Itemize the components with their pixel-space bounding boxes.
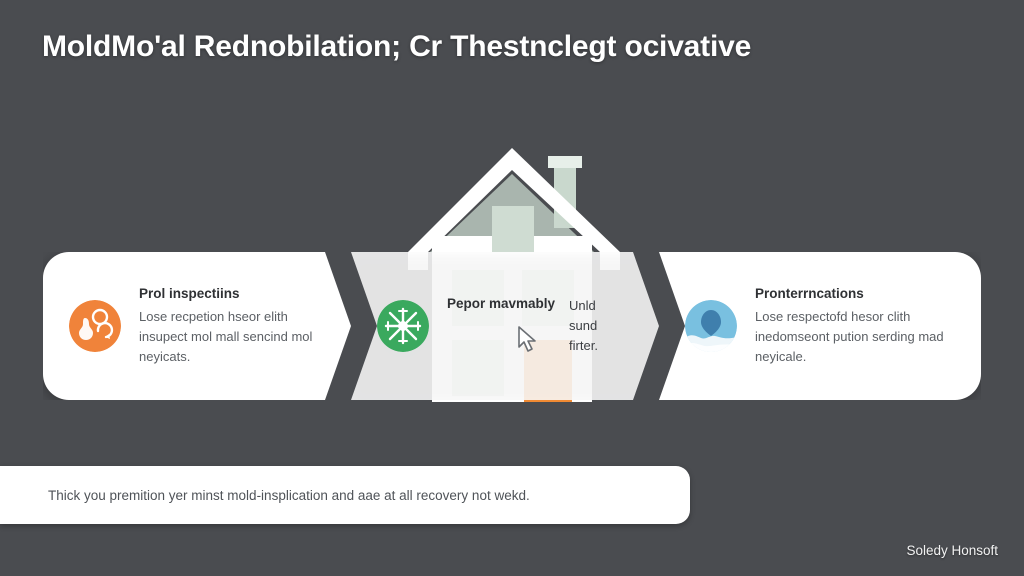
mold-inspection-icon	[69, 300, 121, 352]
step-card-2-text: Pepor mavmably Unld sund firter.	[447, 296, 641, 356]
step-card-3-body: Lose respectofd hesor clith inedomseont …	[755, 307, 963, 367]
step-card-2[interactable]: Pepor mavmably Unld sund firter.	[351, 252, 659, 400]
bottom-note-bar: Thick you premition yer minst mold-inspl…	[0, 466, 690, 524]
spore-burst-icon	[377, 300, 429, 352]
step-card-1[interactable]: Prol inspectiins Lose recpetion hseor el…	[43, 252, 351, 400]
footer-brand: Soledy Honsoft	[906, 543, 998, 558]
humidity-balloon-icon	[685, 300, 737, 352]
step-card-1-text: Prol inspectiins Lose recpetion hseor el…	[139, 286, 333, 367]
step-card-3-heading: Pronterrncations	[755, 286, 963, 302]
step-card-3-text: Pronterrncations Lose respectofd hesor c…	[755, 286, 963, 367]
step-card-2-body: Unld sund firter.	[569, 296, 621, 356]
page-title: MoldMo'al Rednobilation; Cr Thestnclegt …	[42, 30, 982, 64]
bottom-note-text: Thick you premition yer minst mold-inspl…	[48, 488, 530, 503]
step-card-1-body: Lose recpetion hseor elith insupect mol …	[139, 307, 333, 367]
step-card-1-heading: Prol inspectiins	[139, 286, 333, 302]
step-card-3[interactable]: Pronterrncations Lose respectofd hesor c…	[659, 252, 981, 400]
steps-row: Prol inspectiins Lose recpetion hseor el…	[0, 252, 1024, 400]
step-card-2-heading: Pepor mavmably	[447, 296, 555, 312]
